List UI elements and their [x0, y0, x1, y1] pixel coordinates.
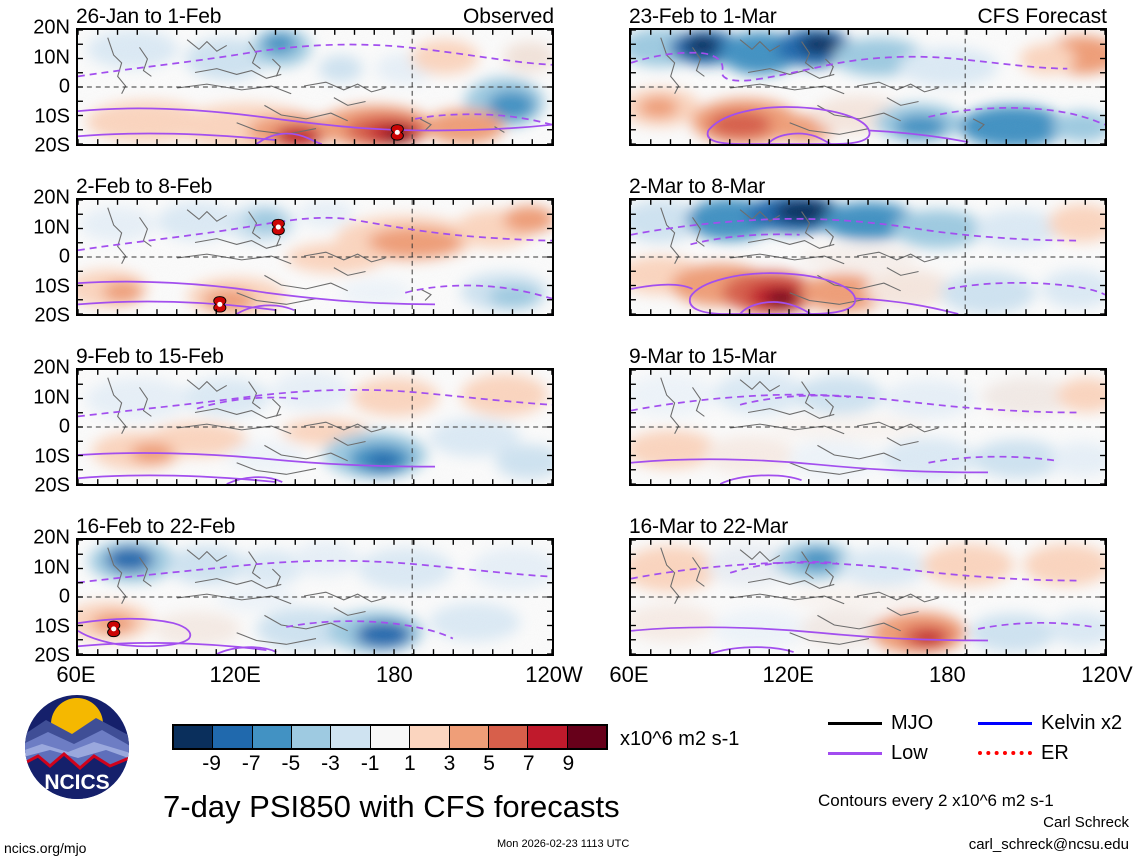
- y-axis-label: 10N: [18, 46, 70, 69]
- legend-label: Low: [891, 742, 928, 765]
- panel-forecast-23feb-1mar[interactable]: 23-Feb to 1-Mar CFS Forecast: [629, 28, 1107, 146]
- low-line-icon: [828, 752, 882, 755]
- colorbar-swatch: [528, 726, 567, 748]
- plot-area: [76, 368, 554, 486]
- colorbar-tick-label: -3: [321, 752, 340, 776]
- y-axis-label: 20S: [18, 305, 70, 328]
- colorbar-tick-label: 1: [404, 752, 416, 776]
- plot-area: [629, 198, 1107, 316]
- plot-area: [76, 538, 554, 656]
- contour-note: Contours every 2 x10^6 m2 s-1: [818, 791, 1054, 811]
- x-axis-label: 180: [929, 662, 966, 688]
- colorbar-swatch: [371, 726, 410, 748]
- x-axis-label: 120E: [209, 662, 260, 688]
- panel-title: 9-Feb to 15-Feb: [76, 345, 224, 369]
- colorbar-tick-label: -5: [282, 752, 301, 776]
- y-axis-label: 20N: [18, 527, 70, 550]
- legend: MJO Kelvin x2 Low ER: [828, 708, 1128, 768]
- y-axis-label: 10N: [18, 556, 70, 579]
- colorbar-tick-label: 5: [483, 752, 495, 776]
- y-axis-label: 10N: [18, 216, 70, 239]
- panel-forecast-2mar-8mar[interactable]: 2-Mar to 8-Mar: [629, 198, 1107, 316]
- panel-title: 16-Feb to 22-Feb: [76, 515, 235, 539]
- ncics-logo[interactable]: NCICS: [24, 694, 130, 800]
- y-axis-label: 10N: [18, 386, 70, 409]
- colorbar-swatch: [568, 726, 606, 748]
- logo-text: NCICS: [44, 771, 109, 794]
- legend-item-low: Low: [828, 742, 978, 765]
- y-axis-label: 10S: [18, 105, 70, 128]
- y-axis-label: 0: [18, 76, 70, 99]
- panel-observed-26jan-1feb[interactable]: 26-Jan to 1-Feb Observed: [76, 28, 554, 146]
- x-axis-label: 60E: [609, 662, 648, 688]
- panel-forecast-9mar-15mar[interactable]: 9-Mar to 15-Mar: [629, 368, 1107, 486]
- y-axis-label: 10S: [18, 445, 70, 468]
- panel-title: 26-Jan to 1-Feb: [76, 5, 221, 29]
- author-email[interactable]: carl_schreck@ncsu.edu: [969, 836, 1129, 853]
- panel-title: 2-Feb to 8-Feb: [76, 175, 212, 199]
- y-axis-label: 0: [18, 416, 70, 439]
- legend-row: MJO Kelvin x2: [828, 708, 1128, 738]
- x-axis-label: 120W: [525, 662, 582, 688]
- panel-title: 2-Mar to 8-Mar: [629, 175, 765, 199]
- x-axis-label: 180: [376, 662, 413, 688]
- y-axis-label: 20N: [18, 17, 70, 40]
- mjo-line-icon: [828, 722, 882, 725]
- er-line-icon: [978, 751, 1032, 755]
- y-axis-label: 0: [18, 586, 70, 609]
- y-axis-label: 20N: [18, 187, 70, 210]
- panel-observed-2feb-8feb[interactable]: 2-Feb to 8-Feb: [76, 198, 554, 316]
- colorbar-tick-label: -1: [361, 752, 380, 776]
- colorbar-swatch: [331, 726, 370, 748]
- legend-label: MJO: [891, 712, 933, 735]
- colorbar-tick-label: -9: [202, 752, 221, 776]
- colorbar-swatch: [253, 726, 292, 748]
- colorbar-swatches: [172, 724, 608, 750]
- timestamp: Mon 2026-02-23 1113 UTC: [497, 838, 629, 850]
- colorbar: -9 -7 -5 -3 -1 1 3 5 7 9: [172, 724, 608, 778]
- x-axis-label: 120E: [762, 662, 813, 688]
- y-axis-label: 20S: [18, 475, 70, 498]
- x-axis-label: 120V: [1081, 662, 1132, 688]
- plot-area: [629, 28, 1107, 146]
- author-name: Carl Schreck: [1043, 814, 1129, 831]
- colorbar-swatch: [489, 726, 528, 748]
- colorbar-tick-label: 9: [562, 752, 574, 776]
- colorbar-swatch: [410, 726, 449, 748]
- y-axis-label: 20S: [18, 135, 70, 158]
- colorbar-swatch: [450, 726, 489, 748]
- panel-forecast-16mar-22mar[interactable]: 16-Mar to 22-Mar: [629, 538, 1107, 656]
- legend-label: Kelvin x2: [1041, 712, 1122, 735]
- colorbar-ticks: -9 -7 -5 -3 -1 1 3 5 7 9: [172, 750, 608, 778]
- colorbar-tick-label: 7: [523, 752, 535, 776]
- legend-label: ER: [1041, 742, 1069, 765]
- kelvin-line-icon: [978, 722, 1032, 725]
- legend-item-er: ER: [978, 742, 1128, 765]
- panel-observed-9feb-15feb[interactable]: 9-Feb to 15-Feb: [76, 368, 554, 486]
- panel-corner-label: Observed: [463, 5, 554, 29]
- y-axis-label: 10S: [18, 615, 70, 638]
- y-axis-label: 0: [18, 246, 70, 269]
- panel-title: 23-Feb to 1-Mar: [629, 5, 777, 29]
- panel-observed-16feb-22feb[interactable]: 16-Feb to 22-Feb: [76, 538, 554, 656]
- plot-area: [629, 538, 1107, 656]
- panel-title: 9-Mar to 15-Mar: [629, 345, 777, 369]
- y-axis-label: 10S: [18, 275, 70, 298]
- colorbar-tick-label: 3: [444, 752, 456, 776]
- colorbar-tick-label: -7: [242, 752, 261, 776]
- colorbar-swatch: [292, 726, 331, 748]
- legend-item-mjo: MJO: [828, 712, 978, 735]
- panel-title: 16-Mar to 22-Mar: [629, 515, 788, 539]
- plot-area: [76, 28, 554, 146]
- colorbar-swatch: [213, 726, 252, 748]
- plot-area: [629, 368, 1107, 486]
- plot-area: [76, 198, 554, 316]
- y-axis-label: 20N: [18, 357, 70, 380]
- legend-row: Low ER: [828, 738, 1128, 768]
- page-title: 7-day PSI850 with CFS forecasts: [163, 789, 620, 825]
- panel-corner-label: CFS Forecast: [977, 5, 1107, 29]
- x-axis-label: 60E: [56, 662, 95, 688]
- legend-item-kelvin: Kelvin x2: [978, 712, 1128, 735]
- colorbar-units-label: x10^6 m2 s-1: [620, 728, 739, 751]
- site-url[interactable]: ncics.org/mjo: [4, 840, 86, 856]
- colorbar-swatch: [174, 726, 213, 748]
